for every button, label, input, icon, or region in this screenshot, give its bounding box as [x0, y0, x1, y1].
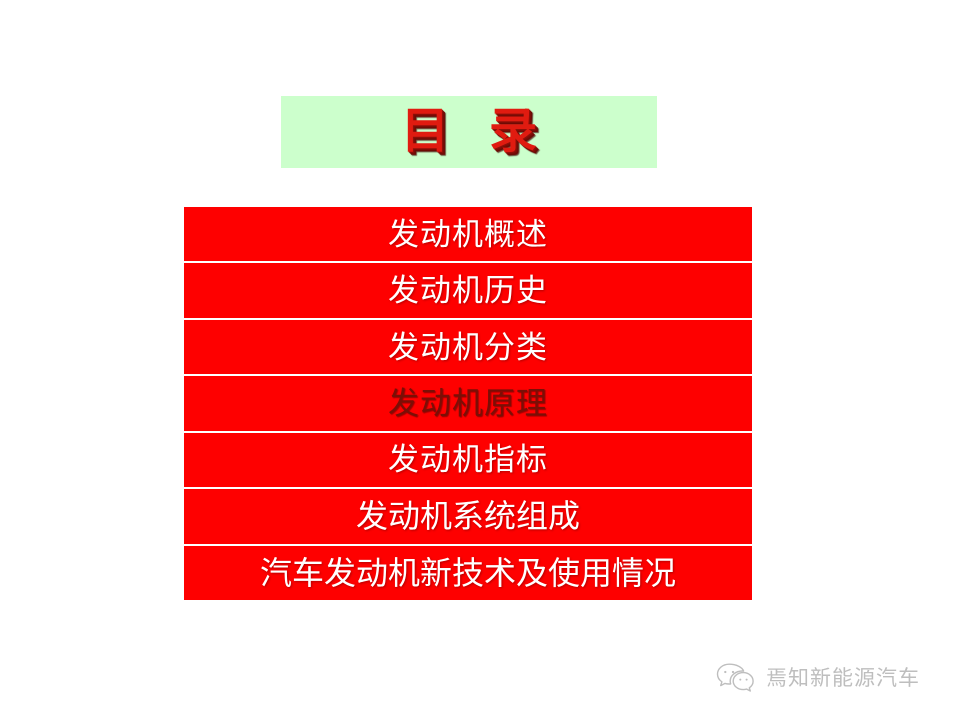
toc-row-1[interactable]: 发动机概述	[184, 207, 752, 263]
toc-item-label: 汽车发动机新技术及使用情况	[260, 557, 676, 589]
toc-item-label: 发动机指标	[388, 444, 548, 475]
toc-row-5[interactable]: 发动机指标	[184, 433, 752, 489]
toc-item-label: 发动机系统组成	[356, 500, 580, 532]
toc-row-3[interactable]: 发动机分类	[184, 320, 752, 376]
watermark: 焉知新能源汽车	[716, 655, 946, 701]
slide-canvas: 目 录 发动机概述 发动机历史 发动机分类 发动机原理 发动机指标 发动机系统组…	[0, 0, 960, 720]
toc-row-7[interactable]: 汽车发动机新技术及使用情况	[184, 546, 752, 600]
toc-row-2[interactable]: 发动机历史	[184, 263, 752, 319]
page-title: 目 录	[387, 108, 551, 156]
wechat-icon	[716, 661, 758, 695]
table-of-contents: 发动机概述 发动机历史 发动机分类 发动机原理 发动机指标 发动机系统组成 汽车…	[184, 207, 752, 600]
toc-item-label: 发动机分类	[388, 332, 548, 363]
toc-row-4[interactable]: 发动机原理	[184, 376, 752, 432]
toc-item-label: 发动机概述	[388, 219, 548, 250]
toc-row-6[interactable]: 发动机系统组成	[184, 489, 752, 545]
title-banner: 目 录	[281, 96, 657, 168]
toc-item-label: 发动机历史	[388, 275, 548, 306]
watermark-label: 焉知新能源汽车	[766, 668, 920, 689]
toc-item-label: 发动机原理	[388, 388, 548, 419]
